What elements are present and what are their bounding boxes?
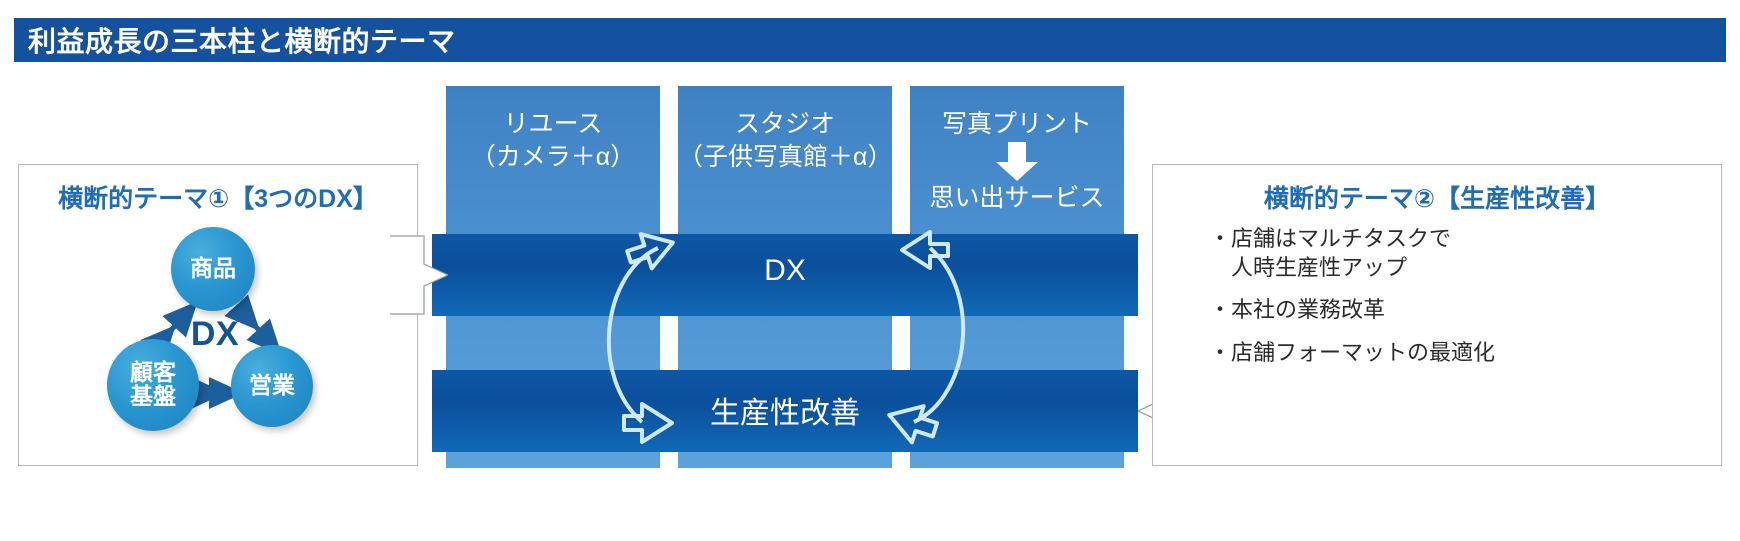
left-theme-panel: 横断的テーマ①【3つのDX】 商品 顧客 基盤 営業 DX xyxy=(18,164,418,466)
pillar-column-photoprint-label-top: 写真プリント xyxy=(910,108,1124,141)
three-pillars-diagram: リユース （カメラ＋α） スタジオ （子供写真館＋α） 写真プリント 思い出サー… xyxy=(446,86,1124,468)
cross-theme-band-dx: DX xyxy=(432,234,1138,316)
right-theme-panel: 横断的テーマ②【生産性改善】 ・店舗はマルチタスクで 人時生産性アップ ・本社の… xyxy=(1152,164,1722,466)
list-item: ・店舗はマルチタスクで 人時生産性アップ xyxy=(1209,225,1711,282)
right-panel-title: 横断的テーマ②【生産性改善】 xyxy=(1264,179,1610,215)
pillar-column-photoprint-label-bottom: 思い出サービス xyxy=(910,182,1124,215)
down-arrow-icon xyxy=(994,142,1040,182)
page-title: 利益成長の三本柱と横断的テーマ xyxy=(14,20,456,60)
dx-circle-sales: 営業 xyxy=(231,345,313,427)
pillar-column-reuse-label: リユース （カメラ＋α） xyxy=(446,108,660,173)
band-productivity-label: 生産性改善 xyxy=(710,388,860,432)
list-item: ・本社の業務改革 xyxy=(1209,296,1711,325)
dx-triangle-diagram: 商品 顧客 基盤 営業 DX xyxy=(89,227,349,447)
connector-chevron-left xyxy=(390,234,448,316)
pillar-column-studio-label: スタジオ （子供写真館＋α） xyxy=(678,108,892,173)
list-item: ・店舗フォーマットの最適化 xyxy=(1209,339,1711,368)
cross-theme-band-productivity: 生産性改善 xyxy=(432,370,1138,452)
dx-circle-product: 商品 xyxy=(171,227,255,311)
left-panel-title: 横断的テーマ①【3つのDX】 xyxy=(58,179,378,215)
band-dx-label: DX xyxy=(764,254,806,288)
slide-title-bar: 利益成長の三本柱と横断的テーマ xyxy=(14,18,1726,62)
dx-center-label: DX xyxy=(173,315,257,354)
right-panel-bullet-list: ・店舗はマルチタスクで 人時生産性アップ ・本社の業務改革 ・店舗フォーマットの… xyxy=(1209,225,1711,381)
